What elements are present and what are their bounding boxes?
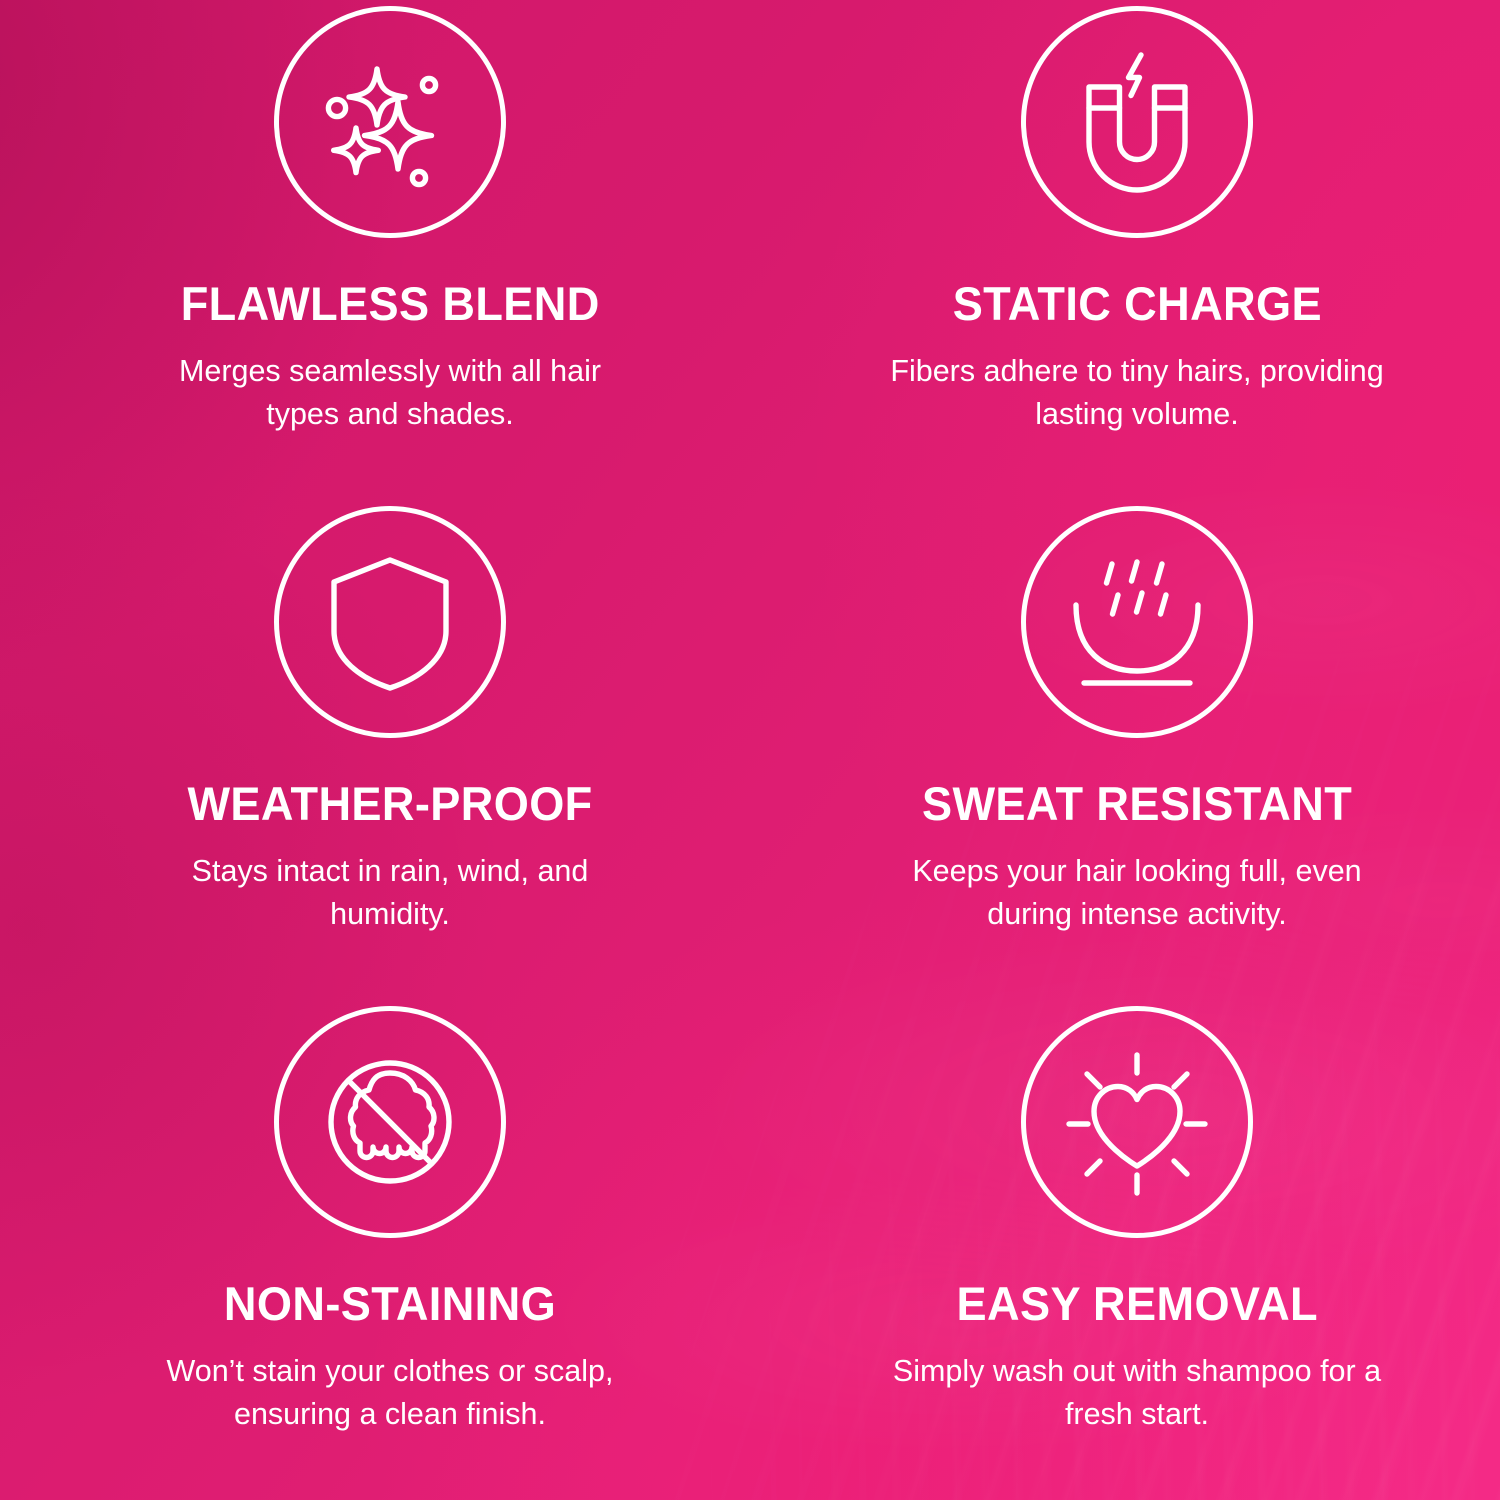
feature-title: SWEAT RESISTANT bbox=[922, 780, 1352, 827]
product-feature-infographic: FLAWLESS BLEND Merges seamlessly with al… bbox=[0, 0, 1500, 1500]
no-stain-icon bbox=[274, 1006, 506, 1238]
feature-title: EASY REMOVAL bbox=[956, 1280, 1317, 1327]
sparkle-icon bbox=[274, 6, 506, 238]
feature-title: FLAWLESS BLEND bbox=[181, 280, 600, 327]
magnet-charge-icon bbox=[1021, 6, 1253, 238]
feature-title: STATIC CHARGE bbox=[952, 280, 1321, 327]
feature-card-sweat-resistant: SWEAT RESISTANT Keeps your hair looking … bbox=[750, 500, 1500, 1000]
feature-card-static-charge: STATIC CHARGE Fibers adhere to tiny hair… bbox=[750, 0, 1500, 500]
feature-card-weather-proof: WEATHER-PROOF Stays intact in rain, wind… bbox=[0, 500, 750, 1000]
feature-description: Stays intact in rain, wind, and humidity… bbox=[140, 850, 640, 936]
feature-description: Fibers adhere to tiny hairs, providing l… bbox=[887, 350, 1387, 436]
feature-title: NON-STAINING bbox=[224, 1280, 556, 1327]
feature-description: Won’t stain your clothes or scalp, ensur… bbox=[140, 1350, 640, 1436]
feature-description: Keeps your hair looking full, even durin… bbox=[887, 850, 1387, 936]
shield-icon bbox=[274, 506, 506, 738]
water-repellent-icon bbox=[1021, 506, 1253, 738]
feature-grid: FLAWLESS BLEND Merges seamlessly with al… bbox=[0, 0, 1500, 1500]
feature-card-flawless-blend: FLAWLESS BLEND Merges seamlessly with al… bbox=[0, 0, 750, 500]
feature-description: Simply wash out with shampoo for a fresh… bbox=[887, 1350, 1387, 1436]
heart-shine-icon bbox=[1021, 1006, 1253, 1238]
feature-description: Merges seamlessly with all hair types an… bbox=[140, 350, 640, 436]
feature-card-easy-removal: EASY REMOVAL Simply wash out with shampo… bbox=[750, 1000, 1500, 1500]
feature-title: WEATHER-PROOF bbox=[187, 780, 592, 827]
feature-card-non-staining: NON-STAINING Won’t stain your clothes or… bbox=[0, 1000, 750, 1500]
